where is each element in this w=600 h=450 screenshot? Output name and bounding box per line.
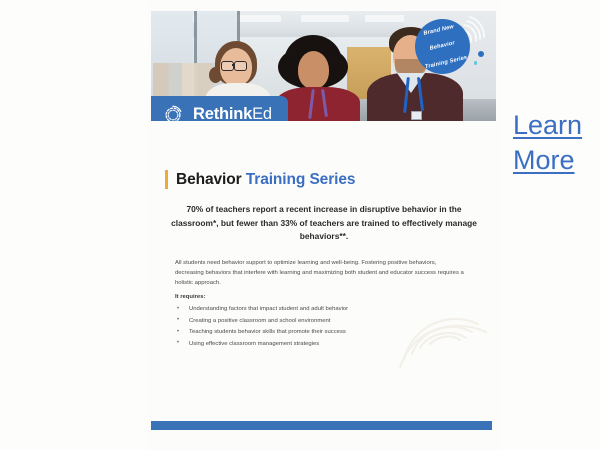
person-center: [276, 35, 360, 121]
face: [298, 51, 329, 89]
footer-bar: [151, 421, 492, 430]
headline-part-blue: Training Series: [246, 171, 356, 188]
ceiling-panel: [301, 15, 349, 22]
flyer-document: Brand New Behavior Training Series Re: [147, 0, 500, 450]
rethinked-logo-plate: RethinkEd: [151, 96, 288, 121]
requirements-list: Understanding factors that impact studen…: [175, 304, 465, 350]
eyeglasses-right-lens: [234, 61, 247, 71]
requires-heading: It requires:: [175, 294, 205, 300]
rethink-swirl-logo-icon: [161, 103, 185, 122]
banner-image: Brand New Behavior Training Series Re: [151, 11, 496, 121]
learn-more-link[interactable]: Learn More: [513, 108, 597, 177]
stat-paragraph: 70% of teachers report a recent increase…: [171, 203, 477, 244]
eyeglasses-bridge: [232, 64, 235, 66]
list-item: Using effective classroom management str…: [175, 339, 465, 351]
logo-word-ed: Ed: [252, 105, 272, 121]
promo-badge-line2: Behavior: [418, 37, 467, 56]
headline-part-dark: Behavior: [176, 171, 242, 188]
title-accent-bar: [165, 170, 168, 189]
decorative-dot: [478, 51, 484, 57]
headline-text: Behavior Training Series: [176, 171, 355, 189]
torso: [276, 87, 360, 121]
logo-wordmark: RethinkEd: [193, 105, 272, 121]
logo-word-rethink: Rethink: [193, 105, 252, 121]
page-root: Brand New Behavior Training Series Re: [0, 0, 600, 450]
body-paragraph: All students need behavior support to op…: [175, 258, 465, 288]
list-item: Understanding factors that impact studen…: [175, 304, 465, 316]
page-title: Behavior Training Series: [165, 170, 355, 189]
ceiling-panel: [365, 15, 409, 22]
list-item: Teaching students behavior skills that p…: [175, 327, 465, 339]
list-item: Creating a positive classroom and school…: [175, 316, 465, 328]
eyeglasses-left-lens: [221, 61, 234, 71]
decorative-dot: [474, 61, 478, 65]
id-badge: [411, 111, 422, 120]
